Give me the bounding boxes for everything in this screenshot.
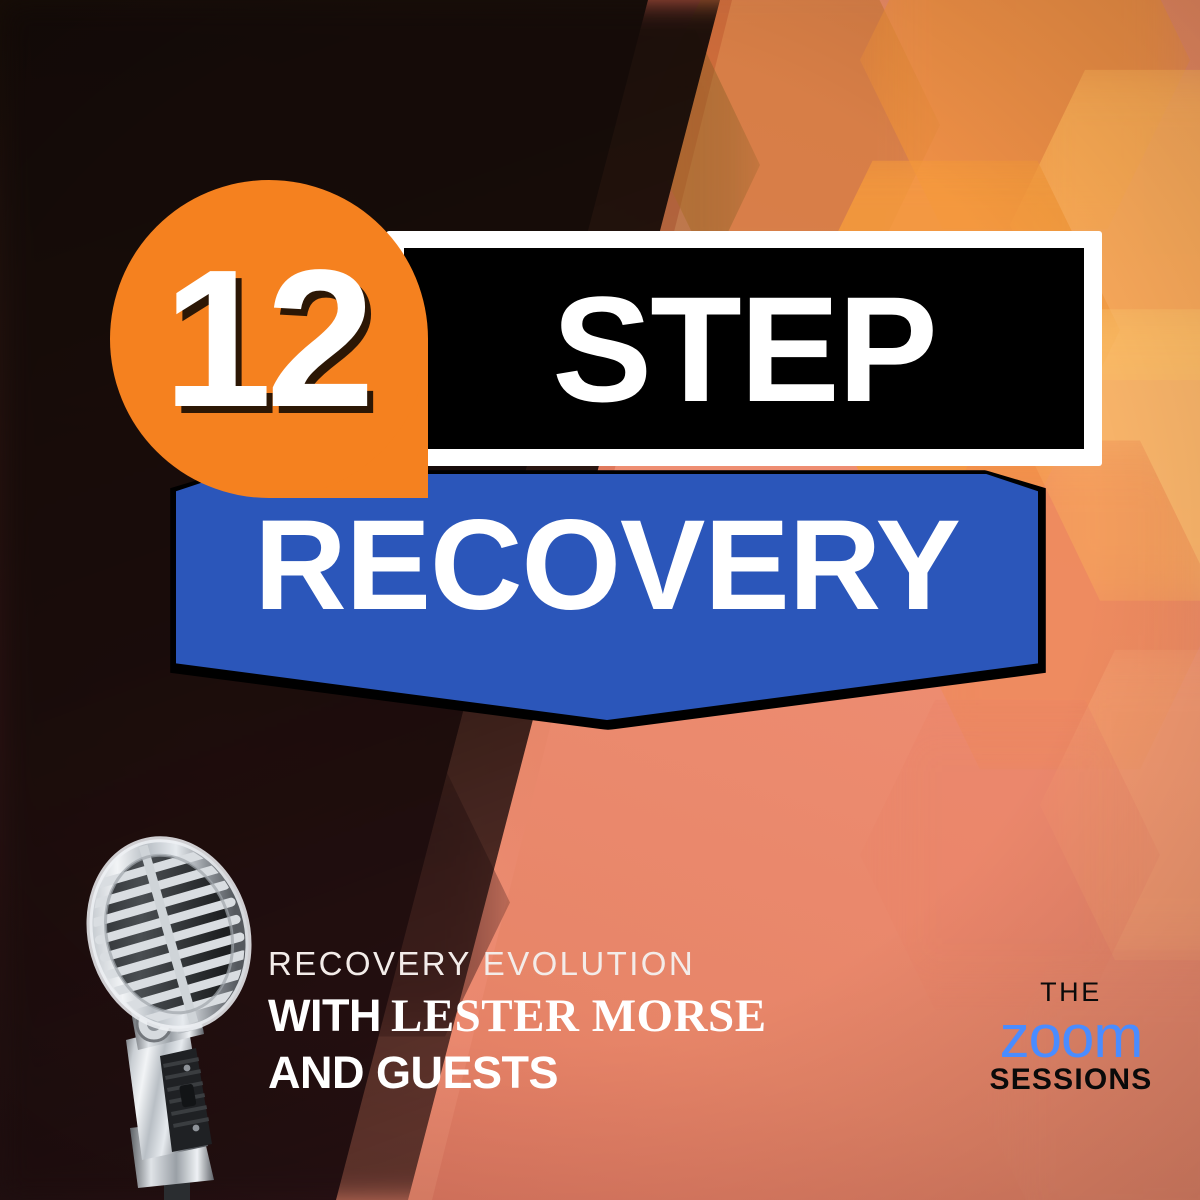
zoom-logo-sessions: SESSIONS: [976, 1063, 1166, 1096]
vintage-microphone-icon: [68, 828, 278, 1200]
number-badge-label: 12: [110, 180, 428, 498]
tagline-block: RECOVERY EVOLUTION WITHLESTER MORSE AND …: [268, 946, 908, 1099]
recovery-label: RECOVERY: [176, 486, 1038, 646]
step-label: STEP: [404, 248, 1084, 449]
zoom-sessions-logo: THE zoom SESSIONS: [976, 978, 1166, 1096]
tagline-host-name: LESTER MORSE: [391, 990, 767, 1042]
tagline-kicker: RECOVERY EVOLUTION: [268, 946, 908, 983]
tagline-guests-line: AND GUESTS: [268, 1047, 908, 1099]
tagline-host-line: WITHLESTER MORSE: [268, 989, 908, 1043]
zoom-logo-wordmark: zoom: [976, 1006, 1166, 1067]
podcast-cover-art: STEP RECOVERY 12: [0, 0, 1200, 1200]
tagline-with-word: WITH: [268, 990, 381, 1041]
